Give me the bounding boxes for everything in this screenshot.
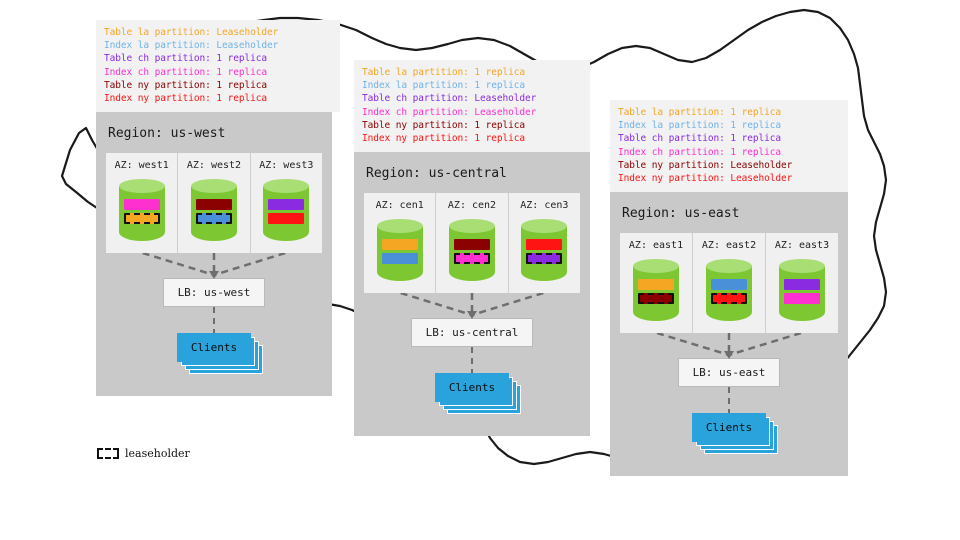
region-title-us-west: Region: us-west: [106, 122, 322, 153]
leaseholder-dashed-swatch-icon: [97, 448, 119, 459]
clients-box-us-east[interactable]: Clients: [692, 413, 766, 442]
replica-bars: [711, 279, 747, 307]
replica-bars: [268, 199, 304, 227]
leaseholder-legend-label: leaseholder: [125, 447, 190, 460]
clients-stack-us-west[interactable]: Clients: [177, 333, 251, 362]
region-panel-us-central: Region: us-centralAZ: cen1AZ: cen2AZ: ce…: [354, 152, 590, 436]
az-to-lb-connectors: [620, 333, 838, 359]
partition-legend-us-east: Table la partition: 1 replicaIndex la pa…: [610, 100, 848, 192]
replica-bars: [638, 279, 674, 307]
clients-stack-us-central[interactable]: Clients: [435, 373, 509, 402]
replica-bars: [526, 239, 562, 267]
legend-line: Index la partition: 1 replica: [618, 119, 840, 132]
legend-line: Table ch partition: 1 replica: [618, 132, 840, 145]
lb-to-clients-connector: [106, 307, 322, 333]
az-cell-cen3[interactable]: AZ: cen3: [509, 193, 580, 293]
dashed-stem: [471, 347, 473, 373]
region-title-us-central: Region: us-central: [364, 162, 580, 193]
clients-box-us-central[interactable]: Clients: [435, 373, 509, 402]
replica-bar: [454, 239, 490, 250]
az-row-us-central: AZ: cen1AZ: cen2AZ: cen3: [364, 193, 580, 293]
az-row-us-east: AZ: east1AZ: east2AZ: east3: [620, 233, 838, 333]
az-label: AZ: east1: [629, 240, 683, 251]
az-label: AZ: east2: [702, 240, 756, 251]
region-panel-us-west: Region: us-westAZ: west1AZ: west2AZ: wes…: [96, 112, 332, 396]
replica-bar-leaseholder: [196, 213, 232, 224]
az-cell-west2[interactable]: AZ: west2: [178, 153, 250, 253]
legend-line: Table la partition: 1 replica: [362, 66, 582, 79]
az-label: AZ: west2: [187, 160, 241, 171]
load-balancer-us-east[interactable]: LB: us-east: [678, 358, 781, 387]
load-balancer-us-central[interactable]: LB: us-central: [411, 318, 534, 347]
dashed-stem: [213, 307, 215, 333]
database-cylinder-icon[interactable]: [521, 219, 567, 281]
region-cluster-us-east: Table la partition: 1 replicaIndex la pa…: [610, 100, 848, 476]
region-cluster-us-west: Table la partition: LeaseholderIndex la …: [96, 20, 340, 396]
replica-bar-leaseholder: [454, 253, 490, 264]
legend-line: Table ny partition: 1 replica: [362, 119, 582, 132]
az-cell-cen1[interactable]: AZ: cen1: [364, 193, 436, 293]
database-cylinder-icon[interactable]: [706, 259, 752, 321]
az-to-lb-connectors: [106, 253, 322, 279]
replica-bar: [124, 199, 160, 210]
az-label: AZ: west1: [115, 160, 169, 171]
region-title-us-east: Region: us-east: [620, 202, 838, 233]
database-cylinder-icon[interactable]: [119, 179, 165, 241]
az-cell-west1[interactable]: AZ: west1: [106, 153, 178, 253]
region-panel-us-east: Region: us-eastAZ: east1AZ: east2AZ: eas…: [610, 192, 848, 476]
az-label: AZ: cen3: [520, 200, 568, 211]
replica-bar: [784, 293, 820, 304]
legend-line: Index ch partition: 1 replica: [104, 66, 332, 79]
database-cylinder-icon[interactable]: [779, 259, 825, 321]
az-cell-east3[interactable]: AZ: east3: [766, 233, 838, 333]
replica-bar: [382, 239, 418, 250]
replica-bar: [711, 279, 747, 290]
diagram-canvas: Table la partition: LeaseholderIndex la …: [0, 0, 960, 540]
az-cell-west3[interactable]: AZ: west3: [251, 153, 322, 253]
az-label: AZ: cen1: [376, 200, 424, 211]
database-cylinder-icon[interactable]: [633, 259, 679, 321]
replica-bar: [268, 199, 304, 210]
legend-line: Index ny partition: 1 replica: [104, 92, 332, 105]
replica-bar: [196, 199, 232, 210]
az-label: AZ: west3: [259, 160, 313, 171]
dashed-stem: [728, 387, 730, 413]
partition-legend-us-west: Table la partition: LeaseholderIndex la …: [96, 20, 340, 112]
legend-line: Index ny partition: Leaseholder: [618, 172, 840, 185]
az-row-us-west: AZ: west1AZ: west2AZ: west3: [106, 153, 322, 253]
legend-line: Index la partition: 1 replica: [362, 79, 582, 92]
legend-line: Table ch partition: Leaseholder: [362, 92, 582, 105]
replica-bar-leaseholder: [638, 293, 674, 304]
replica-bar: [526, 239, 562, 250]
clients-box-us-west[interactable]: Clients: [177, 333, 251, 362]
replica-bars: [382, 239, 418, 267]
legend-line: Table ny partition: Leaseholder: [618, 159, 840, 172]
region-cluster-us-central: Table la partition: 1 replicaIndex la pa…: [354, 60, 590, 436]
partition-legend-us-central: Table la partition: 1 replicaIndex la pa…: [354, 60, 590, 152]
replica-bars: [454, 239, 490, 267]
database-cylinder-icon[interactable]: [191, 179, 237, 241]
legend-line: Table la partition: 1 replica: [618, 106, 840, 119]
replica-bar-leaseholder: [124, 213, 160, 224]
replica-bar-leaseholder: [526, 253, 562, 264]
replica-bars: [196, 199, 232, 227]
database-cylinder-icon[interactable]: [263, 179, 309, 241]
az-to-lb-connectors: [364, 293, 580, 319]
replica-bars: [784, 279, 820, 307]
legend-line: Index la partition: Leaseholder: [104, 39, 332, 52]
legend-line: Index ch partition: 1 replica: [618, 146, 840, 159]
legend-line: Index ch partition: Leaseholder: [362, 106, 582, 119]
legend-line: Table ch partition: 1 replica: [104, 52, 332, 65]
replica-bar: [382, 253, 418, 264]
az-label: AZ: east3: [775, 240, 829, 251]
replica-bars: [124, 199, 160, 227]
lb-to-clients-connector: [620, 387, 838, 413]
az-cell-east1[interactable]: AZ: east1: [620, 233, 693, 333]
replica-bar: [268, 213, 304, 224]
az-label: AZ: cen2: [448, 200, 496, 211]
clients-stack-us-east[interactable]: Clients: [692, 413, 766, 442]
lb-to-clients-connector: [364, 347, 580, 373]
leaseholder-legend-key: leaseholder: [97, 447, 190, 460]
load-balancer-us-west[interactable]: LB: us-west: [163, 278, 266, 307]
az-cell-east2[interactable]: AZ: east2: [693, 233, 766, 333]
replica-bar-leaseholder: [711, 293, 747, 304]
replica-bar: [638, 279, 674, 290]
az-cell-cen2[interactable]: AZ: cen2: [436, 193, 508, 293]
replica-bar: [784, 279, 820, 290]
legend-line: Table ny partition: 1 replica: [104, 79, 332, 92]
legend-line: Index ny partition: 1 replica: [362, 132, 582, 145]
database-cylinder-icon[interactable]: [377, 219, 423, 281]
legend-line: Table la partition: Leaseholder: [104, 26, 332, 39]
database-cylinder-icon[interactable]: [449, 219, 495, 281]
